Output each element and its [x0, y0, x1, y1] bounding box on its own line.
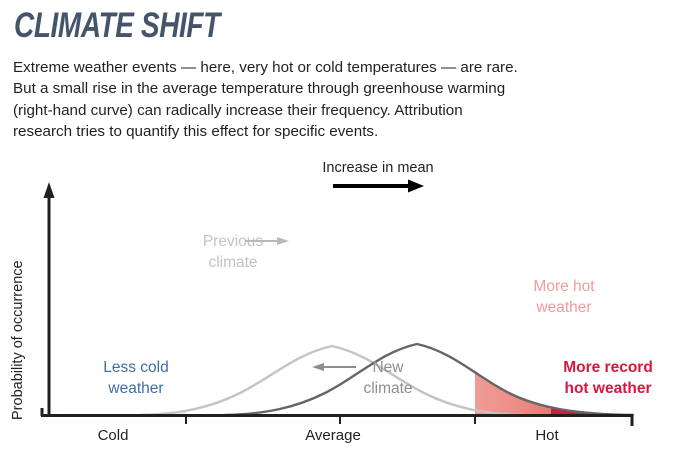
new-climate-label-line1: New	[372, 359, 404, 376]
x-tick-average: Average	[305, 427, 361, 444]
shaded-region-less-cold	[140, 346, 524, 415]
x-tick-hot: Hot	[535, 427, 559, 444]
deck-line-1: Extreme weather events — here, very hot …	[13, 57, 668, 78]
less-cold-weather-label-line2: weather	[107, 380, 163, 397]
climate-shift-chart: Probability of occurrence Cold Average H…	[0, 150, 685, 458]
new-climate-arrow-icon	[312, 363, 356, 371]
deck-line-4: research tries to quantify this effect f…	[13, 121, 668, 142]
deck-line-2: But a small rise in the average temperat…	[13, 78, 668, 99]
increase-in-mean-arrow-icon	[333, 180, 424, 193]
deck-line-3: (right-hand curve) can radically increas…	[13, 100, 668, 121]
page-title: CLIMATE SHIFT	[14, 8, 220, 45]
previous-climate-label-line2: climate	[208, 254, 257, 271]
new-climate-label-line2: climate	[363, 380, 412, 397]
previous-climate-curve	[140, 346, 524, 415]
y-axis	[44, 182, 55, 415]
increase-in-mean-label: Increase in mean	[322, 160, 433, 176]
deck-text: Extreme weather events — here, very hot …	[13, 57, 668, 142]
more-hot-weather-label-line2: weather	[535, 299, 591, 316]
y-axis-label: Probability of occurrence	[10, 260, 26, 420]
more-record-hot-weather-label-line1: More record	[563, 359, 653, 376]
x-tick-cold: Cold	[98, 427, 129, 444]
more-record-hot-weather-label-line2: hot weather	[565, 380, 652, 397]
less-cold-weather-label-line1: Less cold	[103, 359, 168, 376]
more-hot-weather-label-line1: More hot	[533, 278, 595, 295]
